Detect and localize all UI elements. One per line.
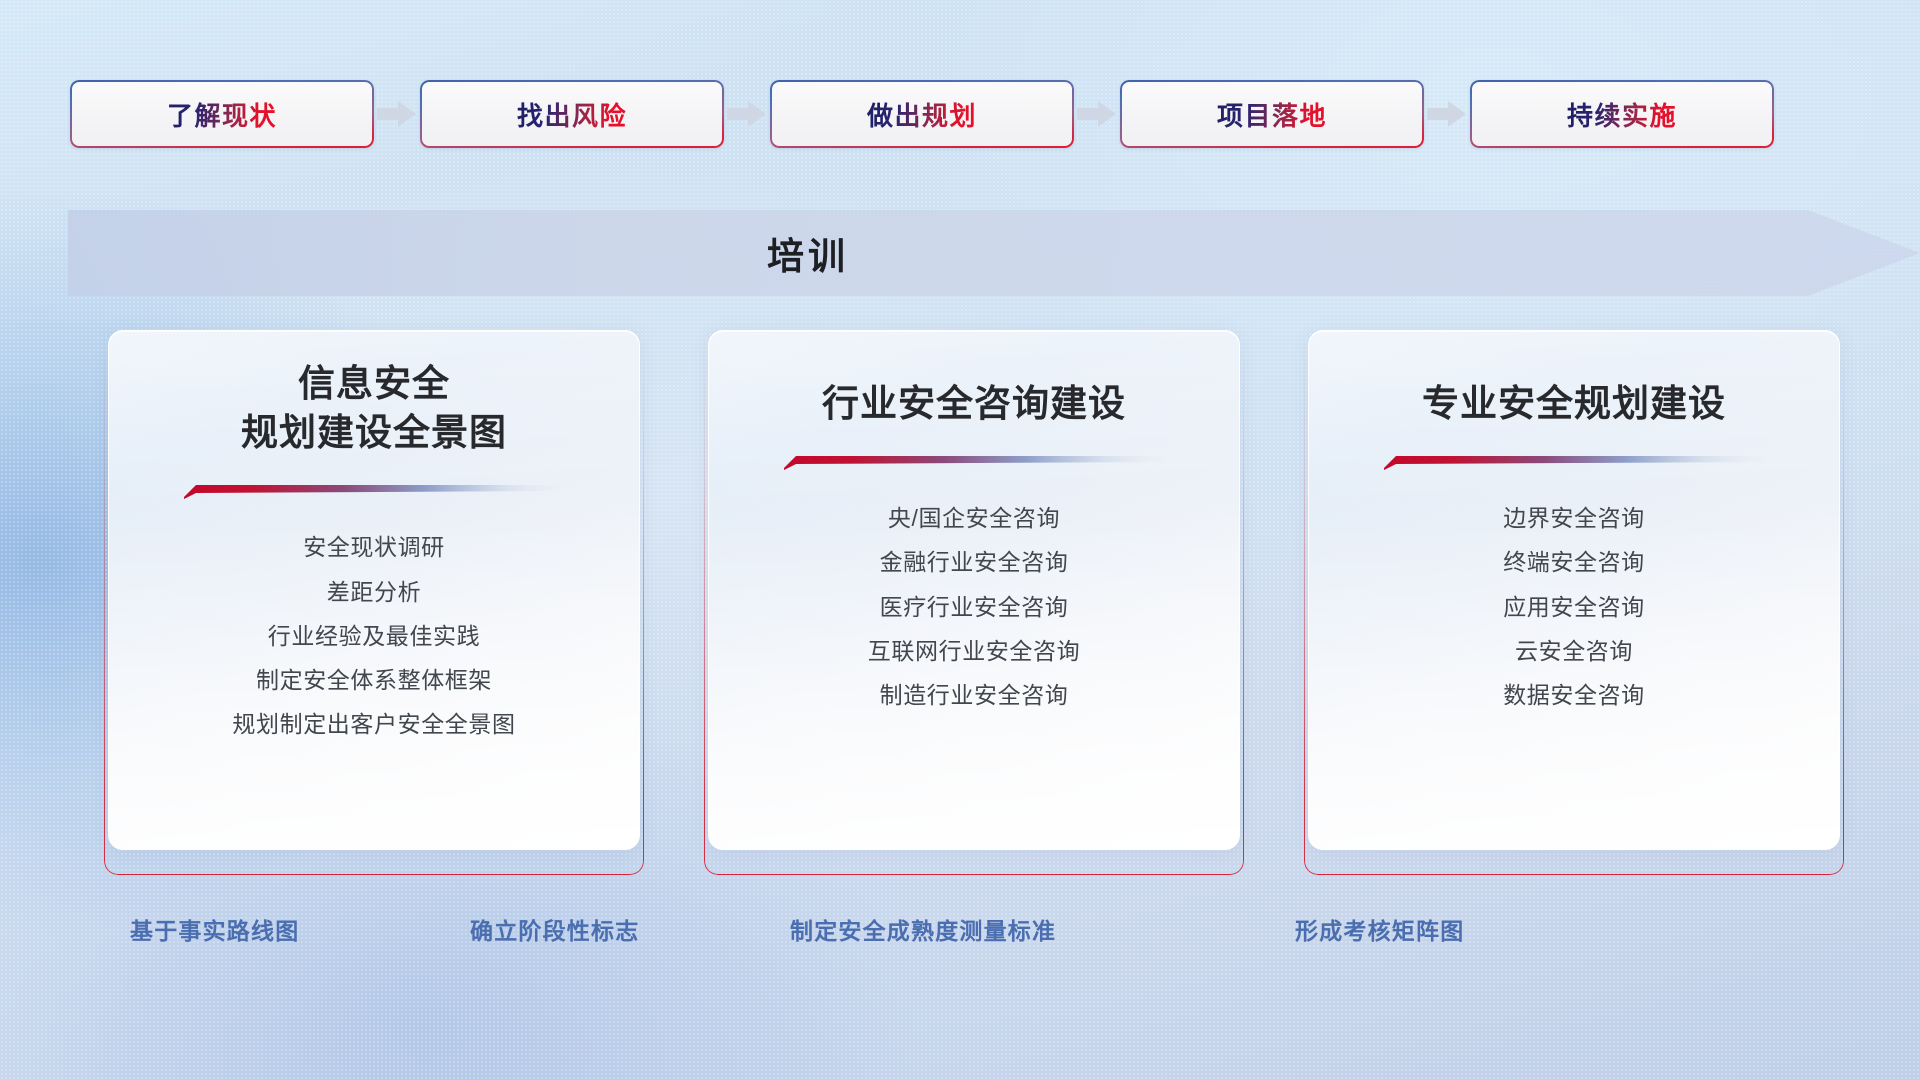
band-label: 培训 (68, 210, 1548, 296)
card-item: 应用安全咨询 (1503, 589, 1645, 626)
step-label-4: 项目落地 (1217, 96, 1327, 133)
card-divider-3 (1384, 454, 1764, 470)
infographic-canvas: 了解现状 找出风险 做出规划 项目落地 (0, 0, 1920, 1080)
card-item: 制造行业安全咨询 (880, 677, 1069, 714)
card-item-list-1: 安全现状调研 差距分析 行业经验及最佳实践 制定安全体系整体框架 规划制定出客户… (109, 529, 639, 743)
right-arrow-icon (724, 99, 770, 129)
service-card-2[interactable]: 行业安全咨询建设 (704, 330, 1244, 875)
card-item-list-2: 央/国企安全咨询 金融行业安全咨询 医疗行业安全咨询 互联网行业安全咨询 制造行… (709, 500, 1239, 714)
step-label-3: 做出规划 (867, 96, 977, 133)
card-title-2: 行业安全咨询建设 (822, 379, 1126, 428)
card-item: 差距分析 (327, 574, 421, 611)
card-title-3: 专业安全规划建设 (1422, 379, 1726, 428)
outcome-caption-1: 基于事实路线图 (130, 912, 299, 946)
training-arrow-band: 培训 (68, 210, 1920, 296)
right-arrow-icon (1074, 99, 1120, 129)
card-body-1: 信息安全 规划建设全景图 (108, 330, 640, 850)
step-label-2: 找出风险 (517, 96, 627, 133)
right-arrow-icon (374, 99, 420, 129)
process-step-row: 了解现状 找出风险 做出规划 项目落地 (70, 80, 1850, 148)
card-item: 医疗行业安全咨询 (880, 589, 1069, 626)
card-item: 规划制定出客户安全全景图 (232, 706, 515, 743)
card-item: 终端安全咨询 (1503, 544, 1645, 581)
card-item-list-3: 边界安全咨询 终端安全咨询 应用安全咨询 云安全咨询 数据安全咨询 (1309, 500, 1839, 714)
outcome-caption-row: 基于事实路线图 确立阶段性标志 制定安全成熟度测量标准 形成考核矩阵图 (0, 912, 1920, 952)
card-body-2: 行业安全咨询建设 (708, 330, 1240, 850)
outcome-caption-4: 形成考核矩阵图 (1295, 912, 1464, 946)
right-arrow-icon (1424, 99, 1470, 129)
step-box-3[interactable]: 做出规划 (770, 80, 1074, 148)
card-item: 数据安全咨询 (1503, 677, 1645, 714)
card-divider-2 (784, 454, 1164, 470)
service-card-1[interactable]: 信息安全 规划建设全景图 (104, 330, 644, 875)
card-item: 边界安全咨询 (1503, 500, 1645, 537)
outcome-caption-2: 确立阶段性标志 (470, 912, 639, 946)
card-item: 金融行业安全咨询 (880, 544, 1069, 581)
card-title-1: 信息安全 规划建设全景图 (241, 359, 507, 457)
service-card-row: 信息安全 规划建设全景图 (104, 330, 1844, 875)
card-item: 制定安全体系整体框架 (256, 662, 492, 699)
step-box-1[interactable]: 了解现状 (70, 80, 374, 148)
step-label-5: 持续实施 (1567, 96, 1677, 133)
service-card-3[interactable]: 专业安全规划建设 (1304, 330, 1844, 875)
card-item: 央/国企安全咨询 (888, 500, 1060, 537)
step-label-1: 了解现状 (167, 96, 277, 133)
card-divider-1 (184, 483, 564, 499)
step-box-4[interactable]: 项目落地 (1120, 80, 1424, 148)
card-item: 安全现状调研 (303, 529, 445, 566)
card-item: 云安全咨询 (1515, 633, 1633, 670)
step-box-2[interactable]: 找出风险 (420, 80, 724, 148)
outcome-caption-3: 制定安全成熟度测量标准 (790, 912, 1056, 946)
card-item: 行业经验及最佳实践 (268, 618, 480, 655)
card-body-3: 专业安全规划建设 (1308, 330, 1840, 850)
step-box-5[interactable]: 持续实施 (1470, 80, 1774, 148)
card-item: 互联网行业安全咨询 (868, 633, 1080, 670)
